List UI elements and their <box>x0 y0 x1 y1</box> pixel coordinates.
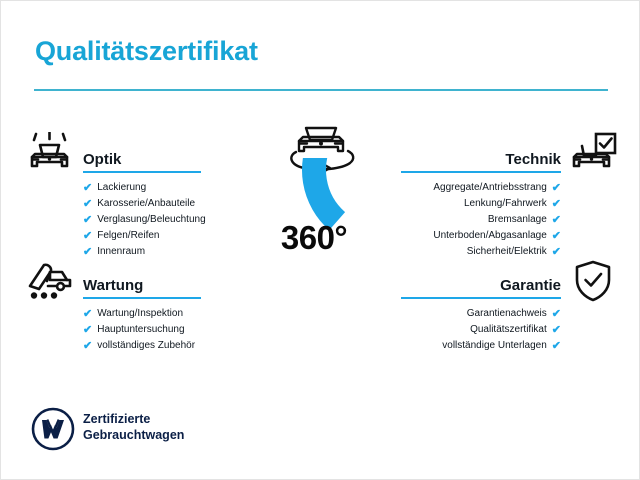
list-item-label: Lackierung <box>97 180 146 196</box>
section-divider <box>401 297 561 299</box>
list-item: ✔Aggregate/Antriebsstrang <box>401 180 561 196</box>
list-item-label: Wartung/Inspektion <box>97 306 183 322</box>
section-title: Garantie <box>500 277 561 294</box>
section-title: Wartung <box>83 277 143 294</box>
section-technik: Technik ✔Aggregate/Antriebsstrang ✔Lenku… <box>401 143 561 260</box>
list-item-label: Qualitätszertifikat <box>470 322 547 338</box>
check-icon: ✔ <box>552 196 561 212</box>
certificate-page: Qualitätszertifikat <box>0 0 640 480</box>
check-icon: ✔ <box>83 244 92 260</box>
list-item: ✔vollständige Unterlagen <box>401 338 561 354</box>
check-icon: ✔ <box>83 228 92 244</box>
list-item: ✔Wartung/Inspektion <box>83 306 201 322</box>
check-icon: ✔ <box>552 322 561 338</box>
vw-roundel-icon <box>31 407 75 456</box>
section-header: Wartung <box>83 269 201 299</box>
check-icon: ✔ <box>552 212 561 228</box>
list-item-label: Lenkung/Fahrwerk <box>464 196 547 212</box>
list-item-label: Unterboden/Abgasanlage <box>433 228 546 244</box>
list-item: ✔Verglasung/Beleuchtung <box>83 212 201 228</box>
section-optik: Optik ✔Lackierung ✔Karosserie/Anbauteile… <box>83 143 201 260</box>
section-garantie: Garantie ✔Garantienachweis ✔Qualitätszer… <box>401 269 561 354</box>
check-icon: ✔ <box>552 180 561 196</box>
list-item-label: Hauptuntersuchung <box>97 322 184 338</box>
section-header: Garantie <box>401 269 561 299</box>
list-item: ✔Lenkung/Fahrwerk <box>401 196 561 212</box>
list-item-label: Bremsanlage <box>488 212 547 228</box>
section-title: Optik <box>83 151 121 168</box>
list-item-label: Innenraum <box>97 244 145 260</box>
list-item: ✔Hauptuntersuchung <box>83 322 201 338</box>
list-item: ✔Bremsanlage <box>401 212 561 228</box>
list-item: ✔Qualitätszertifikat <box>401 322 561 338</box>
section-title: Technik <box>505 151 561 168</box>
page-title: Qualitätszertifikat <box>35 36 258 67</box>
list-item-label: Felgen/Reifen <box>97 228 159 244</box>
list-item-label: Garantienachweis <box>467 306 547 322</box>
list-item: ✔Garantienachweis <box>401 306 561 322</box>
list-item: ✔Karosserie/Anbauteile <box>83 196 201 212</box>
check-icon: ✔ <box>552 228 561 244</box>
checklist: ✔Lackierung ✔Karosserie/Anbauteile ✔Verg… <box>83 180 201 260</box>
section-wartung: Wartung ✔Wartung/Inspektion ✔Hauptunters… <box>83 269 201 354</box>
vw-wordmark: Zertifizierte Gebrauchtwagen <box>83 411 184 443</box>
check-icon: ✔ <box>552 244 561 260</box>
list-item: ✔Lackierung <box>83 180 201 196</box>
list-item-label: vollständiges Zubehör <box>97 338 195 354</box>
shield-check-icon <box>573 260 613 307</box>
list-item: ✔Sicherheit/Elektrik <box>401 244 561 260</box>
check-icon: ✔ <box>552 306 561 322</box>
section-divider <box>401 171 561 173</box>
badge-360-check: Gebrauchtwagen-Check <box>234 158 394 318</box>
badge-curved-label: Gebrauchtwagen-Check <box>253 234 375 299</box>
list-item: ✔Felgen/Reifen <box>83 228 201 244</box>
section-divider <box>83 171 201 173</box>
vw-wordmark-line2: Gebrauchtwagen <box>83 427 184 443</box>
check-icon: ✔ <box>83 338 92 354</box>
checklist: ✔Garantienachweis ✔Qualitätszertifikat ✔… <box>401 306 561 354</box>
car-wrench-icon <box>25 259 75 306</box>
car-checkbox-icon <box>569 132 617 179</box>
vw-wordmark-line1: Zertifizierte <box>83 411 184 427</box>
svg-text:Gebrauchtwagen-Check: Gebrauchtwagen-Check <box>253 234 375 299</box>
section-header: Technik <box>401 143 561 173</box>
list-item-label: Karosserie/Anbauteile <box>97 196 195 212</box>
check-icon: ✔ <box>552 338 561 354</box>
check-icon: ✔ <box>83 196 92 212</box>
list-item: ✔vollständiges Zubehör <box>83 338 201 354</box>
check-icon: ✔ <box>83 306 92 322</box>
list-item: ✔Innenraum <box>83 244 201 260</box>
title-divider <box>34 89 608 91</box>
list-item-label: vollständige Unterlagen <box>442 338 547 354</box>
car-shine-icon <box>27 132 73 179</box>
section-divider <box>83 297 201 299</box>
list-item: ✔Unterboden/Abgasanlage <box>401 228 561 244</box>
check-icon: ✔ <box>83 212 92 228</box>
checklist: ✔Aggregate/Antriebsstrang ✔Lenkung/Fahrw… <box>401 180 561 260</box>
checklist: ✔Wartung/Inspektion ✔Hauptuntersuchung ✔… <box>83 306 201 354</box>
check-icon: ✔ <box>83 180 92 196</box>
list-item-label: Sicherheit/Elektrik <box>467 244 547 260</box>
check-icon: ✔ <box>83 322 92 338</box>
list-item-label: Verglasung/Beleuchtung <box>97 212 205 228</box>
list-item-label: Aggregate/Antriebsstrang <box>433 180 546 196</box>
section-header: Optik <box>83 143 201 173</box>
